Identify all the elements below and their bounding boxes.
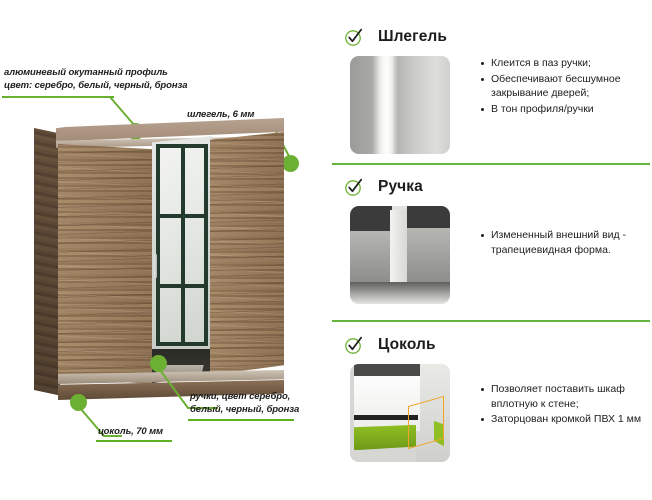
annotation-plinth-underline <box>96 440 172 442</box>
mirror-mullion-h2 <box>156 284 208 288</box>
annotation-handles-underline <box>188 419 294 421</box>
feature-body-plinth: Позволяет поставить шкаф вплотную к стен… <box>330 364 652 462</box>
feature-bullets-plinth: Позволяет поставить шкаф вплотную к стен… <box>468 382 652 428</box>
bullet-item: В тон профиля/ручки <box>481 102 652 117</box>
wardrobe-door-mirror <box>152 136 212 383</box>
feature-bullets-handle: Измененный внешний вид - трапециевидная … <box>468 228 652 258</box>
feature-body-shlegel: Клеится в паз ручки; Обеспечивают бесшум… <box>330 56 652 154</box>
mirror-mullion-h1 <box>156 214 208 218</box>
section-divider <box>332 163 650 165</box>
mirror-door-handle <box>154 254 157 278</box>
feature-header-handle: Ручка <box>330 172 652 202</box>
feature-body-handle: Измененный внешний вид - трапециевидная … <box>330 206 652 304</box>
annotation-plinth: цоколь, 70 мм <box>98 425 163 438</box>
feature-section-plinth: Цоколь Позволяет поставить шкаф вплотную… <box>330 330 652 462</box>
feature-title-plinth: Цоколь <box>378 336 436 354</box>
bullet-item: Измененный внешний вид - трапециевидная … <box>481 228 652 257</box>
bullet-item: Позволяет поставить шкаф вплотную к стен… <box>481 382 652 411</box>
annotation-profile-line1: алюминевый окутанный профиль <box>4 66 168 79</box>
product-illustration-panel: алюминевый окутанный профиль цвет: сереб… <box>0 0 330 500</box>
handle-photo <box>350 206 450 304</box>
bullet-item: Заторцован кромкой ПВХ 1 мм <box>481 412 652 427</box>
feature-bullets-shlegel: Клеится в паз ручки; Обеспечивают бесшум… <box>468 56 652 117</box>
features-panel: Шлегель Клеится в паз ручки; Обеспечиваю… <box>330 0 652 500</box>
bullet-item: Клеится в паз ручки; <box>481 56 652 71</box>
check-circle-icon <box>344 335 364 355</box>
plinth-photo <box>350 364 450 462</box>
mirror-mullion-vertical <box>181 144 185 346</box>
wardrobe-door-left <box>58 144 154 384</box>
check-circle-icon <box>344 177 364 197</box>
feature-header-plinth: Цоколь <box>330 330 652 360</box>
mirror-frame-left <box>156 144 160 346</box>
annotation-handles-line1: ручки, цвет серебро, <box>190 390 290 403</box>
mirror-frame-right <box>204 144 208 346</box>
feature-title-handle: Ручка <box>378 178 423 196</box>
wardrobe-side-panel <box>34 128 60 396</box>
annotation-handles-line2: белый, черный, бронза <box>190 403 299 416</box>
check-circle-icon <box>344 27 364 47</box>
wardrobe-door-right <box>210 132 284 375</box>
feature-header-shlegel: Шлегель <box>330 22 652 52</box>
section-divider <box>332 320 650 322</box>
feature-title-shlegel: Шлегель <box>378 28 447 46</box>
shlegel-photo <box>350 56 450 154</box>
annotation-profile-line2: цвет: серебро, белый, черный, бронза <box>4 79 187 92</box>
feature-section-shlegel: Шлегель Клеится в паз ручки; Обеспечиваю… <box>330 22 652 154</box>
feature-section-handle: Ручка Измененный внешний вид - трапециев… <box>330 172 652 304</box>
bullet-item: Обеспечивают бесшумное закрывание дверей… <box>481 72 652 101</box>
